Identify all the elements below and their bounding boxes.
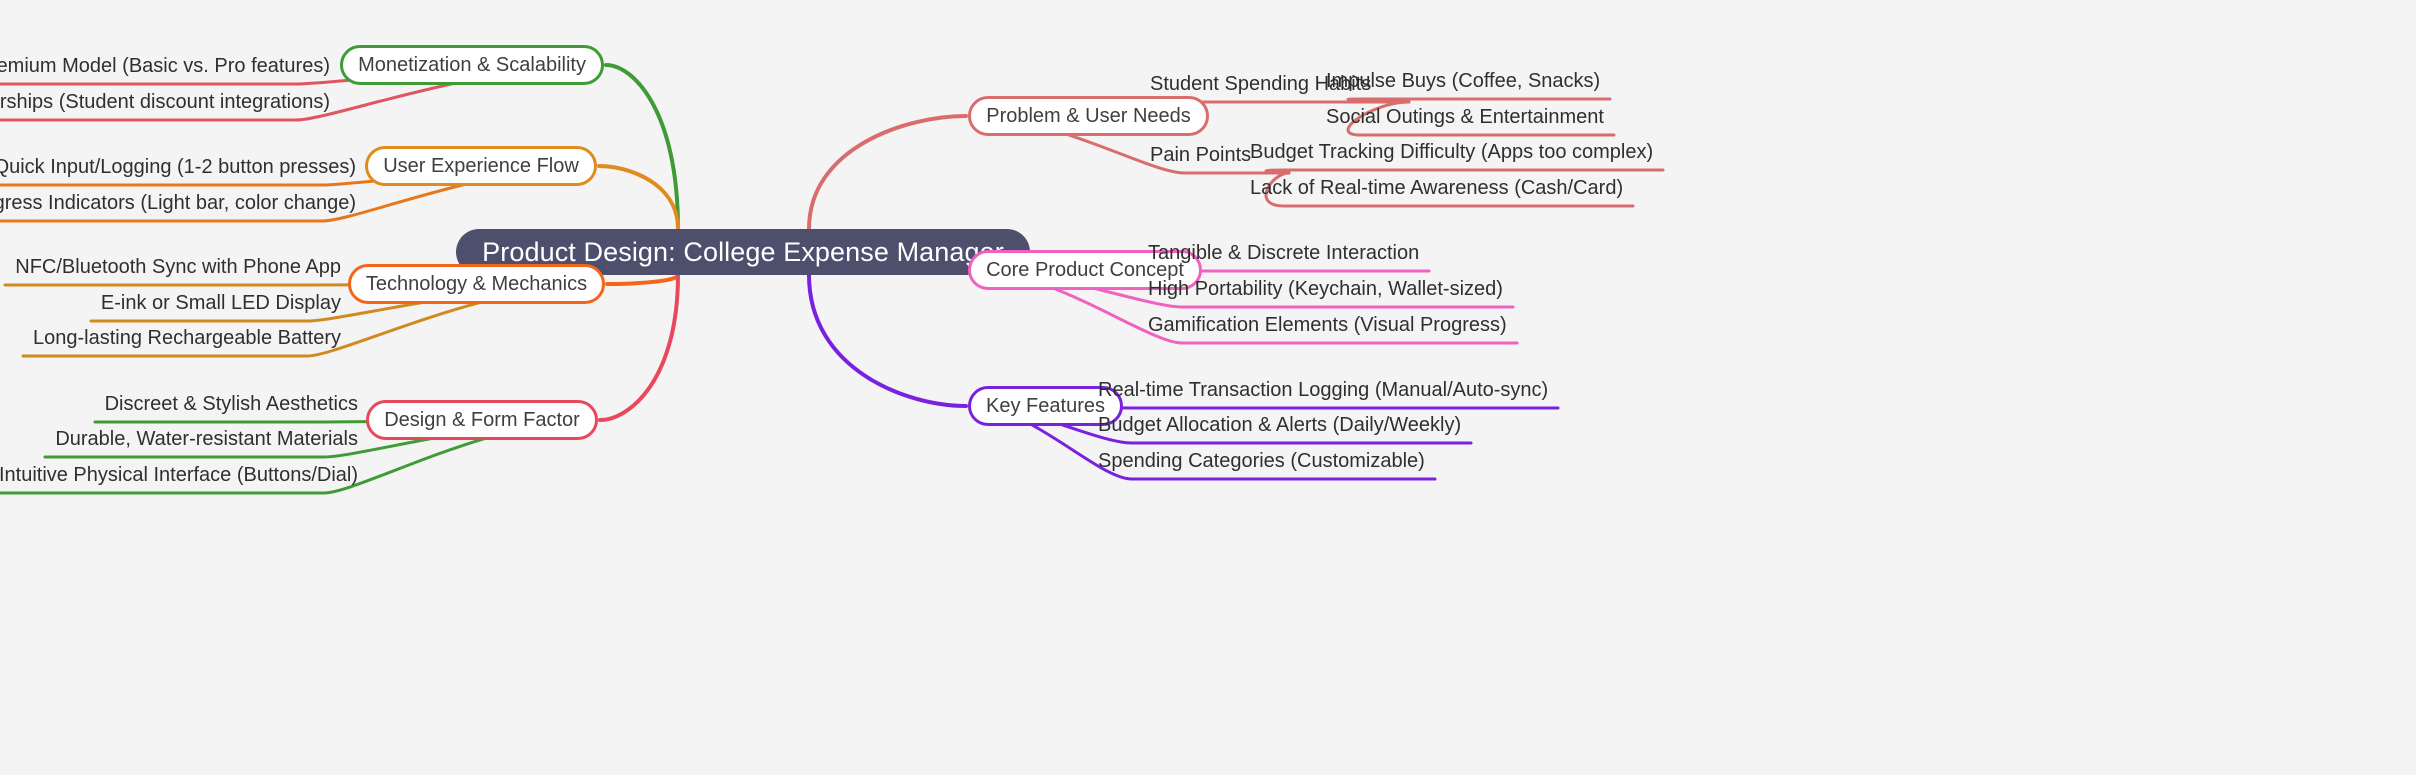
leaf-node-3-1[interactable]: Durable, Water-resistant Materials <box>45 424 358 454</box>
leaf-node-0-0-label: Freemium Model (Basic vs. Pro features) <box>0 55 330 78</box>
leaf-node-6-2[interactable]: Spending Categories (Customizable) <box>1098 446 1435 476</box>
leaf-node-2-1-label: E-ink or Small LED Display <box>101 292 341 315</box>
leaf-node-3-2-label: Intuitive Physical Interface (Buttons/Di… <box>0 464 358 487</box>
leaf-node-4-1-0[interactable]: Budget Tracking Difficulty (Apps too com… <box>1250 137 1663 167</box>
branch-node-6-label: Key Features <box>986 395 1105 418</box>
leaf-node-0-1-label: Partnerships (Student discount integrati… <box>0 91 330 114</box>
branch-node-2-label: Technology & Mechanics <box>366 273 587 296</box>
mindmap-edge <box>600 275 678 420</box>
leaf-node-1-1[interactable]: Visual Progress Indicators (Light bar, c… <box>0 188 356 218</box>
leaf-node-2-1[interactable]: E-ink or Small LED Display <box>91 288 341 318</box>
leaf-node-4-0-0-label: Impulse Buys (Coffee, Snacks) <box>1326 70 1600 93</box>
branch-node-4[interactable]: Problem & User Needs <box>968 96 1209 136</box>
root-node-label: Product Design: College Expense Manager <box>482 237 1004 268</box>
leaf-node-5-2-label: Gamification Elements (Visual Progress) <box>1148 314 1507 337</box>
branch-node-2[interactable]: Technology & Mechanics <box>348 264 605 304</box>
group-node-4-1[interactable]: Pain Points <box>1150 140 1261 170</box>
leaf-node-5-1[interactable]: High Portability (Keychain, Wallet-sized… <box>1148 274 1513 304</box>
leaf-node-0-0[interactable]: Freemium Model (Basic vs. Pro features) <box>0 51 330 81</box>
mindmap-canvas: Product Design: College Expense ManagerM… <box>0 0 2416 775</box>
leaf-node-1-0[interactable]: Quick Input/Logging (1-2 button presses) <box>0 152 356 182</box>
leaf-node-2-2[interactable]: Long-lasting Rechargeable Battery <box>23 323 341 353</box>
leaf-node-5-0[interactable]: Tangible & Discrete Interaction <box>1148 238 1429 268</box>
mindmap-edge <box>599 166 678 229</box>
leaf-node-0-1[interactable]: Partnerships (Student discount integrati… <box>0 87 330 117</box>
mindmap-edge <box>606 65 678 229</box>
leaf-node-5-2[interactable]: Gamification Elements (Visual Progress) <box>1148 310 1517 340</box>
leaf-node-4-1-0-label: Budget Tracking Difficulty (Apps too com… <box>1250 141 1653 164</box>
branch-node-3-label: Design & Form Factor <box>384 409 580 432</box>
leaf-node-6-1[interactable]: Budget Allocation & Alerts (Daily/Weekly… <box>1098 410 1471 440</box>
leaf-node-5-1-label: High Portability (Keychain, Wallet-sized… <box>1148 278 1503 301</box>
leaf-node-2-0-label: NFC/Bluetooth Sync with Phone App <box>15 256 341 279</box>
mindmap-edge <box>809 275 966 406</box>
branch-node-1-label: User Experience Flow <box>383 155 579 178</box>
leaf-node-6-2-label: Spending Categories (Customizable) <box>1098 450 1425 473</box>
leaf-node-4-1-1-label: Lack of Real-time Awareness (Cash/Card) <box>1250 177 1623 200</box>
branch-node-0-label: Monetization & Scalability <box>358 54 586 77</box>
leaf-node-4-0-1[interactable]: Social Outings & Entertainment <box>1326 102 1614 132</box>
leaf-node-4-0-0[interactable]: Impulse Buys (Coffee, Snacks) <box>1326 66 1610 96</box>
leaf-node-4-0-1-label: Social Outings & Entertainment <box>1326 106 1604 129</box>
branch-node-4-label: Problem & User Needs <box>986 105 1191 128</box>
leaf-node-6-0-label: Real-time Transaction Logging (Manual/Au… <box>1098 379 1548 402</box>
leaf-node-6-0[interactable]: Real-time Transaction Logging (Manual/Au… <box>1098 375 1558 405</box>
leaf-node-6-1-label: Budget Allocation & Alerts (Daily/Weekly… <box>1098 414 1461 437</box>
branch-node-3[interactable]: Design & Form Factor <box>366 400 598 440</box>
mindmap-edge <box>809 116 966 229</box>
leaf-node-5-0-label: Tangible & Discrete Interaction <box>1148 242 1419 265</box>
branch-node-1[interactable]: User Experience Flow <box>365 146 597 186</box>
leaf-node-3-0-label: Discreet & Stylish Aesthetics <box>105 393 358 416</box>
leaf-node-2-0[interactable]: NFC/Bluetooth Sync with Phone App <box>5 252 341 282</box>
leaf-node-2-2-label: Long-lasting Rechargeable Battery <box>33 327 341 350</box>
leaf-node-1-1-label: Visual Progress Indicators (Light bar, c… <box>0 192 356 215</box>
leaf-node-3-2[interactable]: Intuitive Physical Interface (Buttons/Di… <box>0 460 358 490</box>
group-node-4-1-label: Pain Points <box>1150 144 1251 167</box>
leaf-node-3-0[interactable]: Discreet & Stylish Aesthetics <box>95 389 358 419</box>
leaf-node-3-1-label: Durable, Water-resistant Materials <box>55 428 358 451</box>
branch-node-0[interactable]: Monetization & Scalability <box>340 45 604 85</box>
leaf-node-4-1-1[interactable]: Lack of Real-time Awareness (Cash/Card) <box>1250 173 1633 203</box>
mindmap-edge <box>607 275 678 284</box>
leaf-node-1-0-label: Quick Input/Logging (1-2 button presses) <box>0 156 356 179</box>
